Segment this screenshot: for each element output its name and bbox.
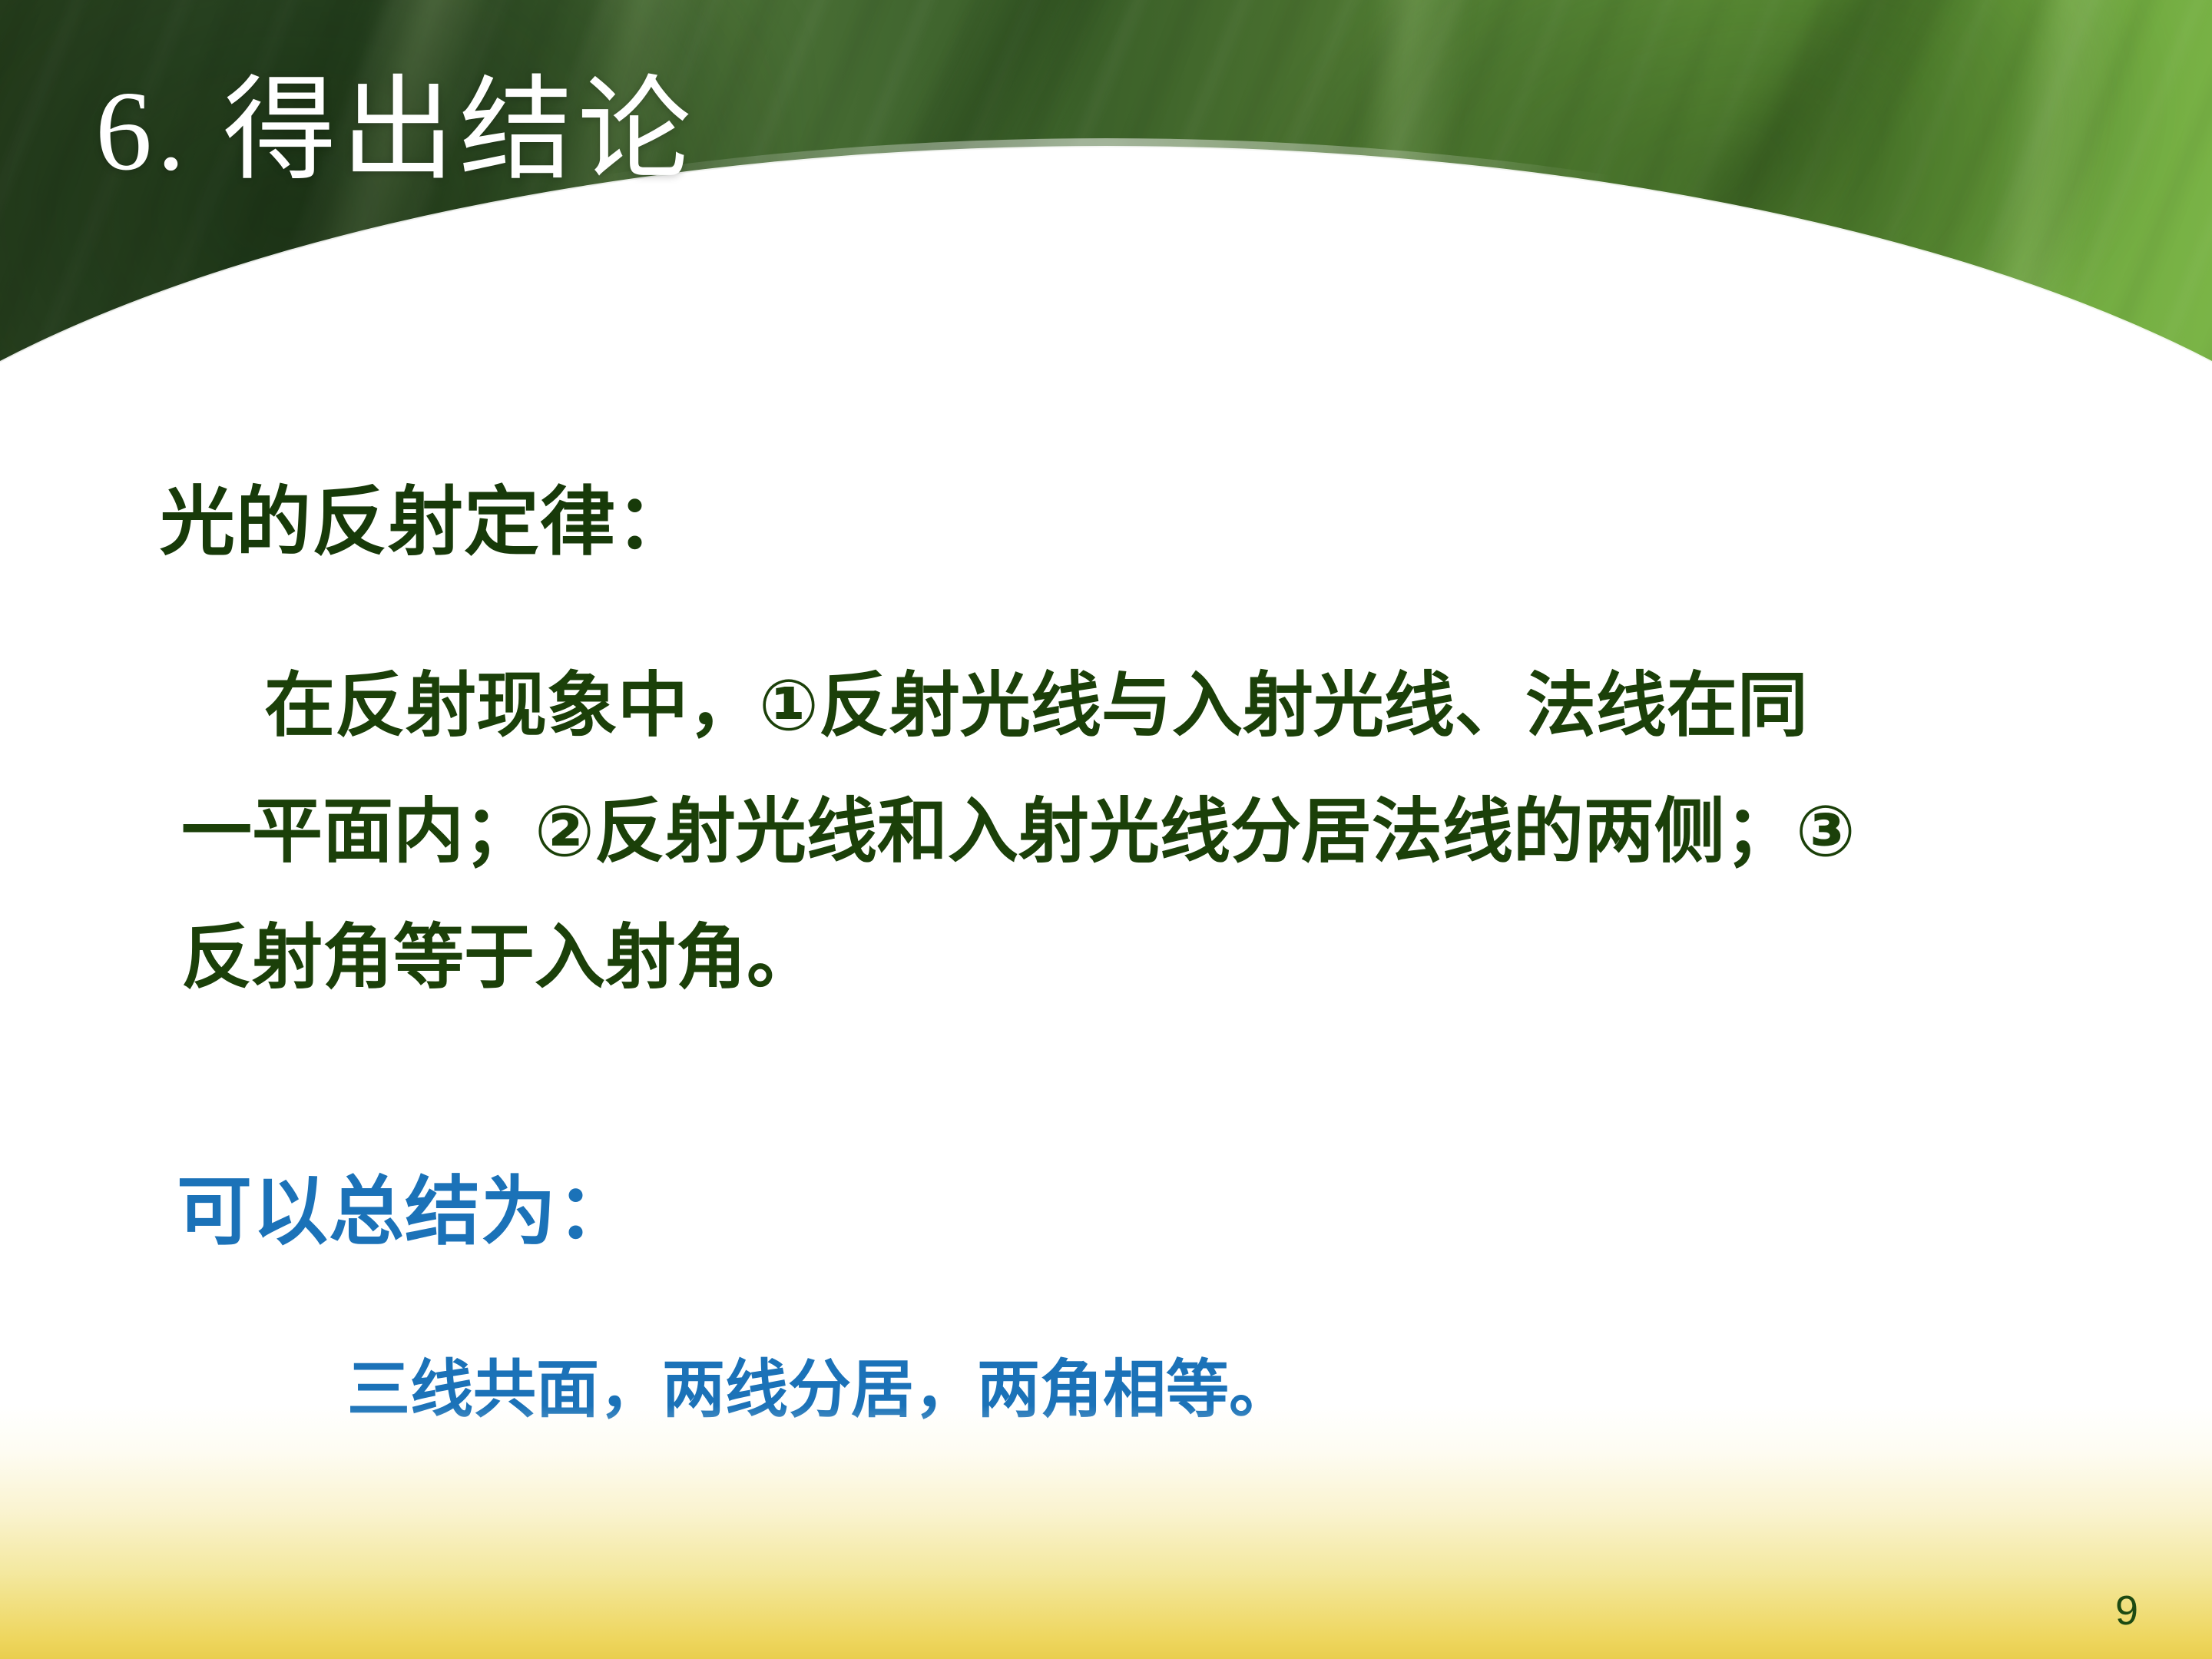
law-body-line-2: 一平面内；②反射光线和入射光线分居法线的两侧；③ [181, 770, 2040, 896]
law-of-reflection-heading: 光的反射定律： [160, 461, 692, 570]
law-body-line-1: 在反射现象中，①反射光线与入射光线、法线在同 [181, 644, 2040, 770]
footer-gradient-band [0, 1406, 2212, 1659]
summary-heading: 可以总结为： [177, 1151, 633, 1260]
law-body-line-3: 反射角等于入射角。 [181, 896, 2040, 1022]
law-of-reflection-body: 在反射现象中，①反射光线与入射光线、法线在同 一平面内；②反射光线和入射光线分居… [181, 644, 2040, 1021]
page-number: 9 [2115, 1587, 2138, 1634]
presentation-slide: 6. 得出结论 光的反射定律： 在反射现象中，①反射光线与入射光线、法线在同 一… [0, 0, 2212, 1659]
